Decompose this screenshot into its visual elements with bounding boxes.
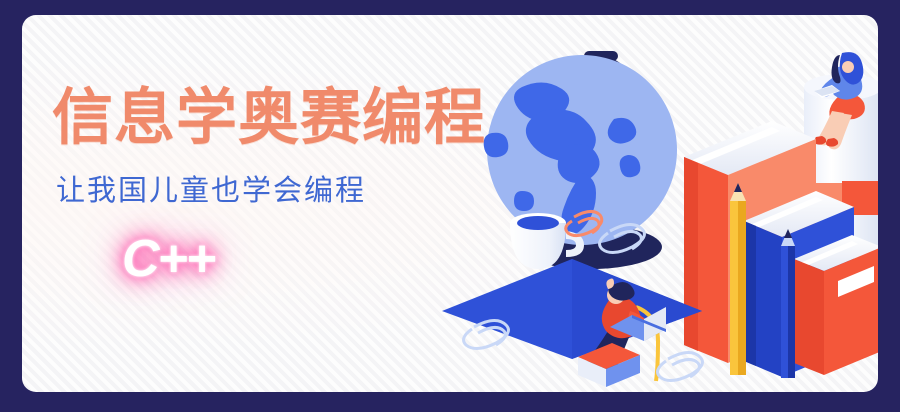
pencil-yellow-icon — [730, 183, 746, 375]
page-subtitle: 让我国儿童也学会编程 — [56, 167, 552, 209]
banner-card: 信息学奥赛编程 让我国儿童也学会编程 C++ — [22, 15, 878, 392]
cpp-logo: C++ — [122, 233, 552, 285]
text-block: 信息学奥赛编程 让我国儿童也学会编程 C++ — [52, 85, 552, 285]
book-small-orange-icon — [794, 235, 878, 375]
page-title: 信息学奥赛编程 — [52, 85, 552, 149]
pencil-blue-icon — [781, 229, 795, 378]
banner-root: 信息学奥赛编程 让我国儿童也学会编程 C++ — [0, 0, 900, 412]
